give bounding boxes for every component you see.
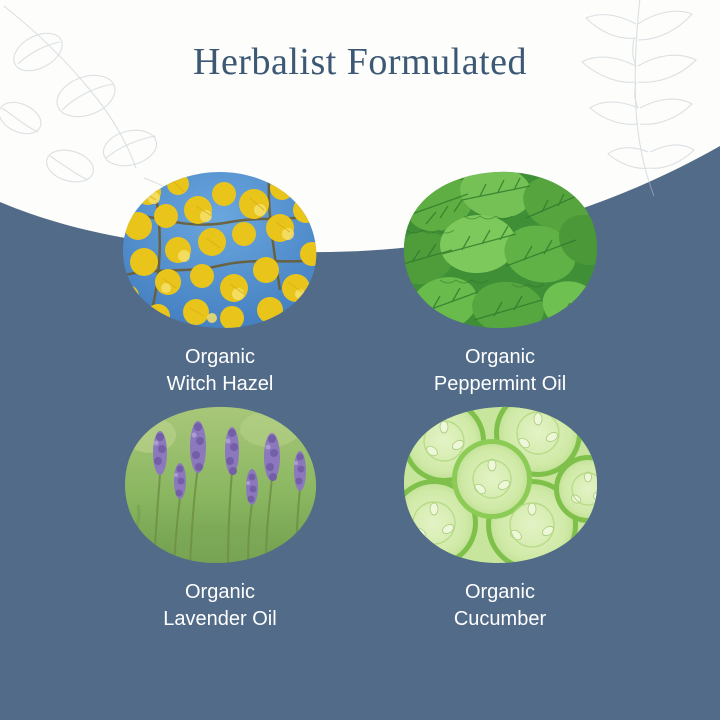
ingredient-line-2: Cucumber [454,606,546,633]
lavender-field-photo [120,405,320,565]
cucumber-slices-photo [400,405,600,565]
ingredient-row-1: Organic Witch Hazel [0,170,720,397]
page-title: Herbalist Formulated [0,40,720,84]
ingredient-row-2: Organic Lavender Oil [0,405,720,632]
ingredient-line-2: Peppermint Oil [434,371,566,398]
peppermint-leaves-photo [400,170,600,330]
ingredient-caption: Organic Witch Hazel [167,344,274,397]
ingredient-card-witch-hazel[interactable]: Organic Witch Hazel [90,170,350,397]
ingredient-line-1: Organic [434,344,566,371]
ingredient-grid: Organic Witch Hazel [0,170,720,632]
ingredient-caption: Organic Peppermint Oil [434,344,566,397]
ingredient-caption: Organic Lavender Oil [163,579,276,632]
ingredient-card-cucumber[interactable]: Organic Cucumber [370,405,630,632]
ingredient-card-lavender-oil[interactable]: Organic Lavender Oil [90,405,350,632]
witch-hazel-blossom-photo [120,170,320,330]
ingredient-card-peppermint-oil[interactable]: Organic Peppermint Oil [370,170,630,397]
ingredient-line-2: Witch Hazel [167,371,274,398]
ingredient-line-2: Lavender Oil [163,606,276,633]
ingredient-line-1: Organic [167,344,274,371]
ingredient-line-1: Organic [454,579,546,606]
ingredient-line-1: Organic [163,579,276,606]
ingredient-caption: Organic Cucumber [454,579,546,632]
promo-graphic: Herbalist Formulated [0,0,720,720]
